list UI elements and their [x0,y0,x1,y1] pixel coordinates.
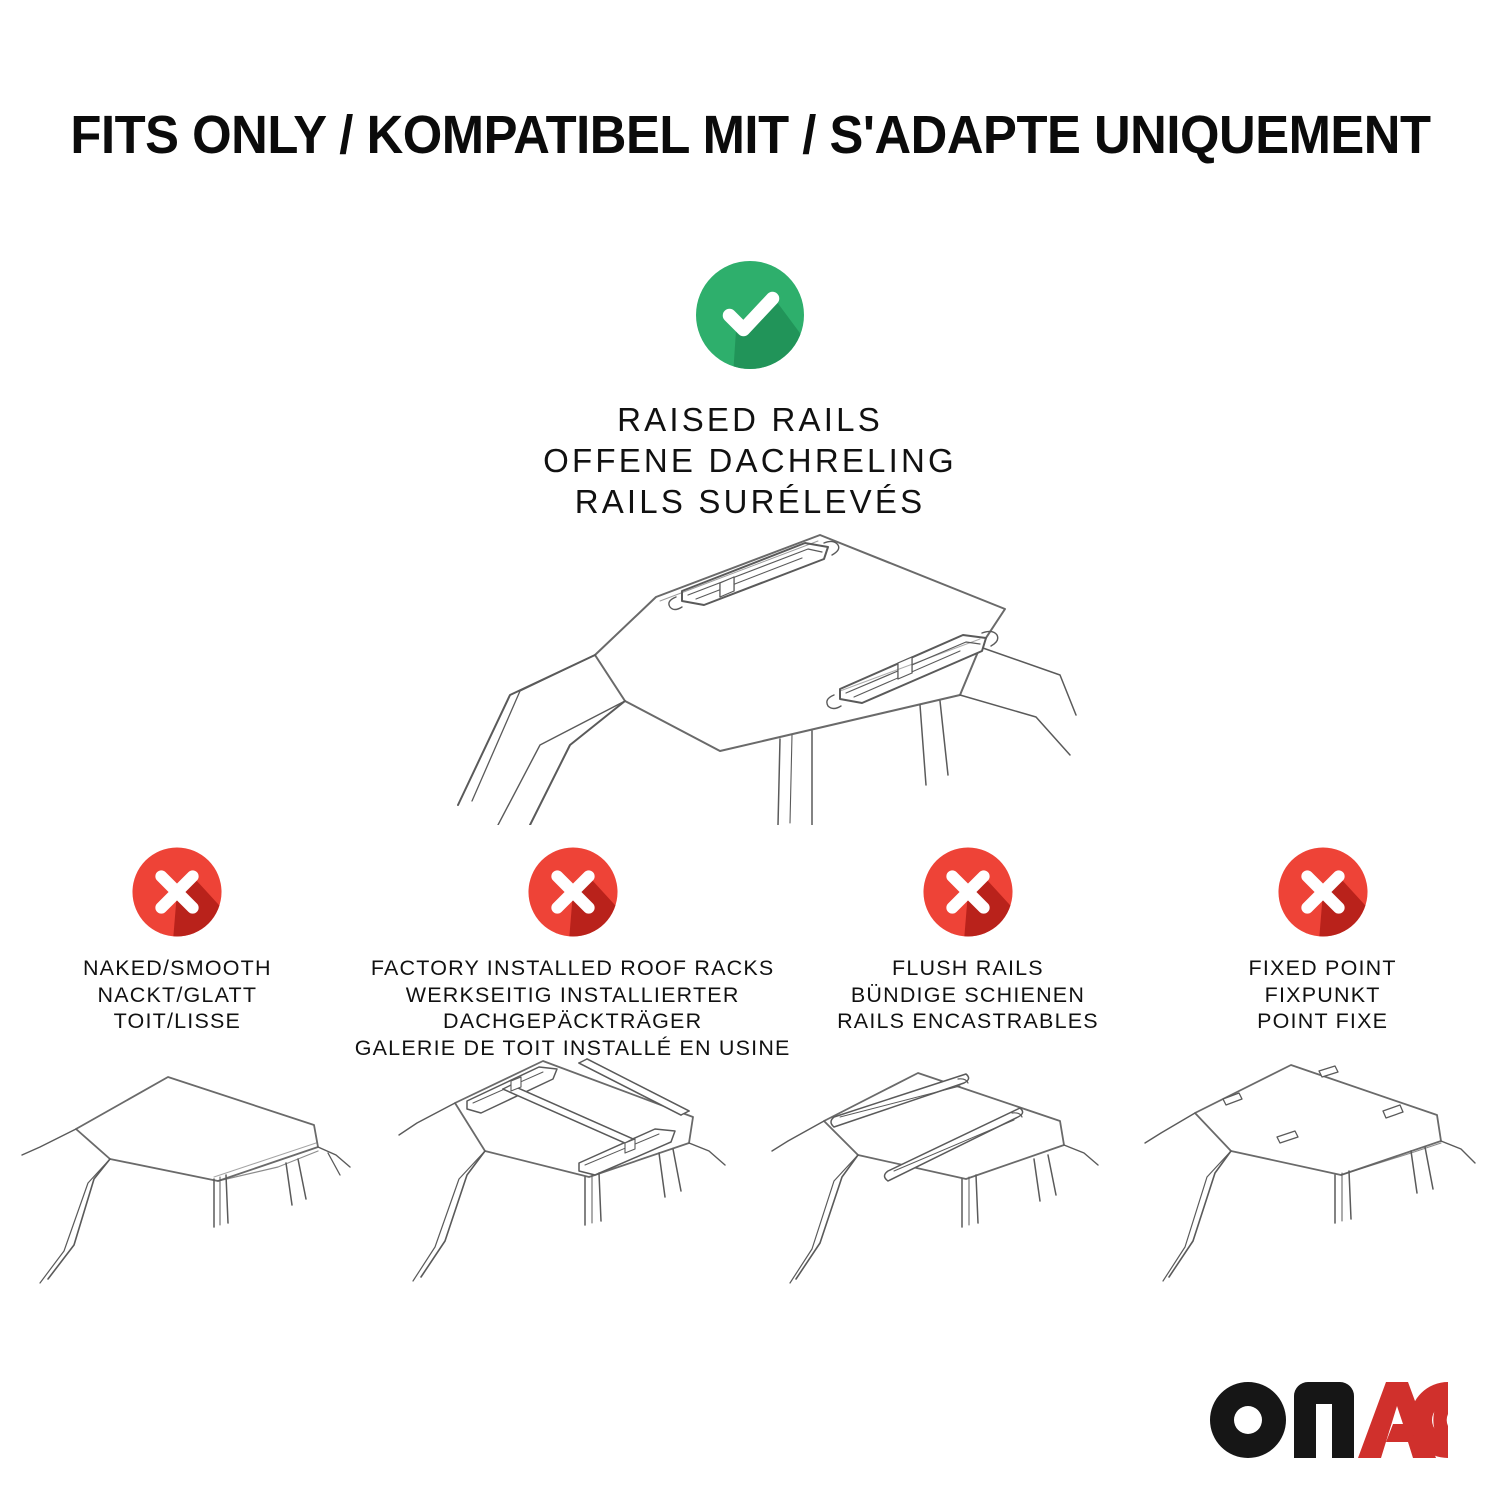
incompatible-item-factory-roof-racks: FACTORY INSTALLED ROOF RACKS WERKSEITIG … [355,845,791,1061]
incompatible-illustration-row [0,1055,1500,1285]
incompatible-label-line-3: POINT FIXE [1249,1008,1397,1035]
compatible-label: RAISED RAILS OFFENE DACHRELING RAILS SUR… [0,399,1500,522]
incompatible-label-line-1: FACTORY INSTALLED ROOF RACKS [355,955,791,982]
incompatible-label: FACTORY INSTALLED ROOF RACKS WERKSEITIG … [355,955,791,1061]
incompatible-item-naked-smooth: NAKED/SMOOTH NACKT/GLATT TOIT/LISSE [0,845,355,1035]
cross-circle-icon [526,845,620,945]
page-title: FITS ONLY / KOMPATIBEL MIT / S'ADAPTE UN… [0,104,1500,166]
compatible-label-line-1: RAISED RAILS [0,399,1500,440]
cross-circle-icon [130,845,224,945]
logo-letter-m [1294,1382,1354,1458]
incompatible-label-line-1: FLUSH RAILS [837,955,1099,982]
incompatible-item-fixed-point: FIXED POINT FIXPUNKT POINT FIXE [1145,845,1500,1035]
car-roof-naked-smooth-illustration [0,1055,375,1285]
incompatible-label-line-2: FIXPUNKT [1249,982,1397,1009]
car-roof-fixed-point-illustration [1125,1055,1500,1285]
incompatible-grid: NAKED/SMOOTH NACKT/GLATT TOIT/LISSE FACT… [0,845,1500,1061]
logo-letter-o [1210,1382,1286,1458]
compatible-section: RAISED RAILS OFFENE DACHRELING RAILS SUR… [0,258,1500,522]
check-circle-icon [693,258,807,372]
compatible-illustration-wrap [0,505,1500,825]
incompatible-label-line-2: BÜNDIGE SCHIENEN [837,982,1099,1009]
incompatible-label: NAKED/SMOOTH NACKT/GLATT TOIT/LISSE [83,955,272,1035]
incompatible-item-flush-rails: FLUSH RAILS BÜNDIGE SCHIENEN RAILS ENCAS… [791,845,1146,1035]
incompatible-label: FIXED POINT FIXPUNKT POINT FIXE [1249,955,1397,1035]
incompatible-label-line-1: NAKED/SMOOTH [83,955,272,982]
cross-circle-icon [1276,845,1370,945]
incompatible-label-line-3: RAILS ENCASTRABLES [837,1008,1099,1035]
page-title-text: FITS ONLY / KOMPATIBEL MIT / S'ADAPTE UN… [70,104,1430,166]
incompatible-label-line-3: DACHGEPÄCKTRÄGER [355,1008,791,1035]
car-roof-factory-roof-racks-illustration [375,1055,750,1285]
incompatible-label-line-3: TOIT/LISSE [83,1008,272,1035]
incompatible-label-line-1: FIXED POINT [1249,955,1397,982]
incompatible-label-line-2: WERKSEITIG INSTALLIERTER [355,982,791,1009]
car-roof-flush-rails-illustration [750,1055,1125,1285]
car-roof-raised-rails-illustration [420,505,1080,825]
compatible-label-line-2: OFFENE DACHRELING [0,440,1500,481]
cross-circle-icon [921,845,1015,945]
omac-logo: OMAC [1210,1382,1448,1458]
incompatible-label: FLUSH RAILS BÜNDIGE SCHIENEN RAILS ENCAS… [837,955,1099,1035]
incompatible-label-line-2: NACKT/GLATT [83,982,272,1009]
